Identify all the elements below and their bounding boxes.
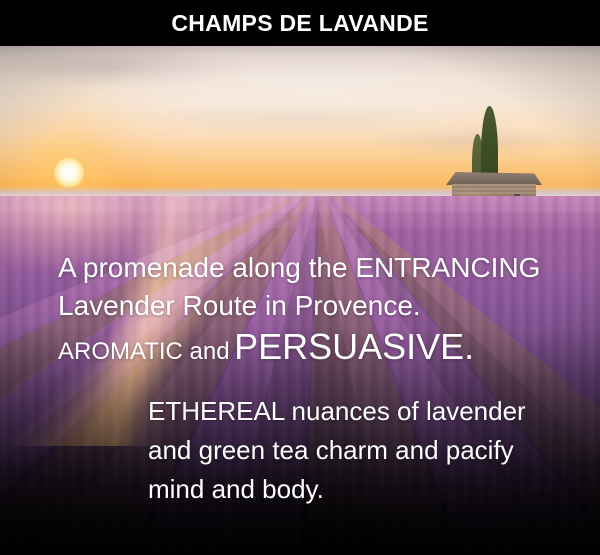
lavender-poster: CHAMPS DE LAVANDE: [0, 0, 600, 555]
headline-line-2: Lavender Route in Provence.: [58, 287, 558, 325]
headline-block-two: ETHEREAL nuances of lavender and green t…: [148, 392, 578, 509]
subcopy-line-1: ETHEREAL nuances of lavender: [148, 392, 578, 431]
headline-persuasive-text: PERSUASIVE.: [234, 326, 474, 367]
title-bar: CHAMPS DE LAVANDE: [0, 0, 600, 46]
cypress-tree: [481, 106, 498, 184]
headline-line-1: A promenade along the ENTRANCING: [58, 249, 558, 287]
headline-line-3: AROMATIC and PERSUASIVE.: [58, 325, 558, 377]
headline-aromatic-text: AROMATIC and: [58, 338, 230, 365]
sun-disc: [54, 158, 84, 188]
subcopy-line-2: and green tea charm and pacify: [148, 431, 578, 470]
headline-block-one: A promenade along the ENTRANCING Lavende…: [58, 249, 558, 377]
page-title: CHAMPS DE LAVANDE: [171, 10, 428, 37]
subcopy-line-3: mind and body.: [148, 470, 578, 509]
